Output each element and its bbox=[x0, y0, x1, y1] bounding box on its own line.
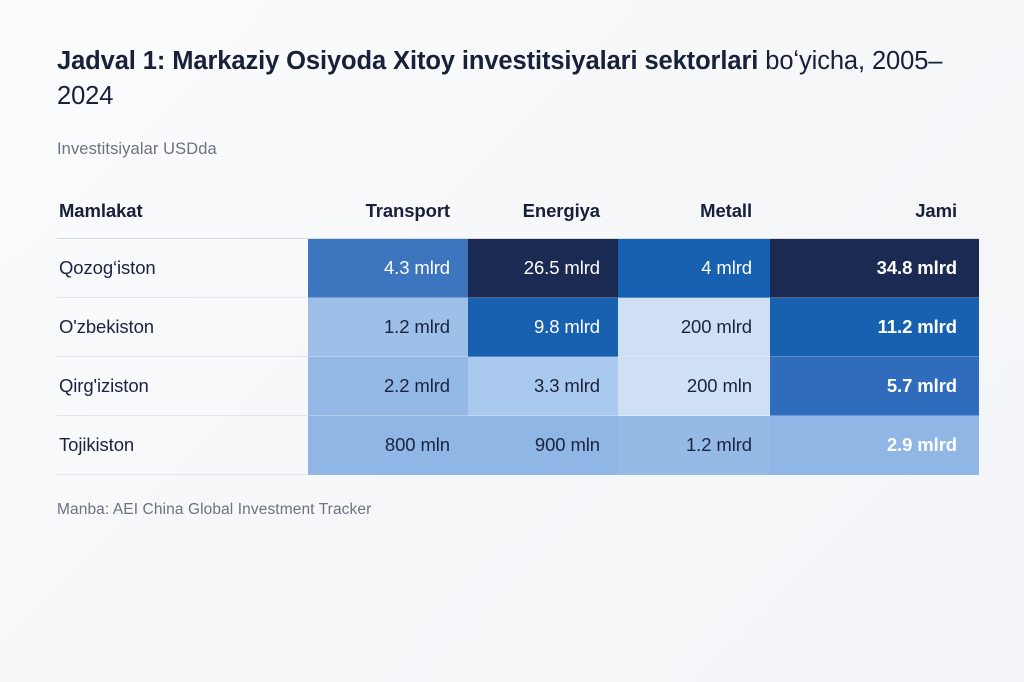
cell-transport: 800 mln bbox=[308, 416, 468, 475]
column-header-transport: Transport bbox=[308, 200, 468, 239]
row-country-label: Tojikiston bbox=[57, 416, 308, 475]
table-header-row: Mamlakat Transport Energiya Metall Jami bbox=[57, 200, 979, 239]
cell-metall: 1.2 mlrd bbox=[618, 416, 770, 475]
cell-transport: 4.3 mlrd bbox=[308, 239, 468, 298]
column-header-energiya: Energiya bbox=[468, 200, 618, 239]
table-header: Mamlakat Transport Energiya Metall Jami bbox=[57, 200, 979, 239]
cell-transport: 2.2 mlrd bbox=[308, 357, 468, 416]
table-row: Tojikiston800 mln900 mln1.2 mlrd2.9 mlrd bbox=[57, 416, 979, 475]
cell-jami: 5.7 mlrd bbox=[770, 357, 979, 416]
table-row: Qirg'iziston2.2 mlrd3.3 mlrd200 mln5.7 m… bbox=[57, 357, 979, 416]
figure-subtitle: Investitsiyalar USDda bbox=[57, 138, 979, 160]
row-country-label: Qirg'iziston bbox=[57, 357, 308, 416]
cell-jami: 11.2 mlrd bbox=[770, 298, 979, 357]
source-note: Manba: AEI China Global Investment Track… bbox=[57, 501, 979, 519]
cell-transport: 1.2 mlrd bbox=[308, 298, 468, 357]
table-body: Qozog‘iston4.3 mlrd26.5 mlrd4 mlrd34.8 m… bbox=[57, 239, 979, 475]
investment-table: Mamlakat Transport Energiya Metall Jami … bbox=[57, 200, 979, 475]
cell-jami: 34.8 mlrd bbox=[770, 239, 979, 298]
table-row: O'zbekiston1.2 mlrd9.8 mlrd200 mlrd11.2 … bbox=[57, 298, 979, 357]
page-title: Jadval 1: Markaziy Osiyoda Xitoy investi… bbox=[57, 44, 957, 114]
investment-table-wrapper: Mamlakat Transport Energiya Metall Jami … bbox=[57, 200, 979, 475]
column-header-jami: Jami bbox=[770, 200, 979, 239]
table-figure-page: Jadval 1: Markaziy Osiyoda Xitoy investi… bbox=[0, 0, 1024, 682]
row-country-label: Qozog‘iston bbox=[57, 239, 308, 298]
column-header-country: Mamlakat bbox=[57, 200, 308, 239]
row-country-label: O'zbekiston bbox=[57, 298, 308, 357]
page-title-strong: Jadval 1: Markaziy Osiyoda Xitoy investi… bbox=[57, 47, 758, 75]
table-row: Qozog‘iston4.3 mlrd26.5 mlrd4 mlrd34.8 m… bbox=[57, 239, 979, 298]
cell-metall: 4 mlrd bbox=[618, 239, 770, 298]
figure-content: Jadval 1: Markaziy Osiyoda Xitoy investi… bbox=[57, 44, 979, 519]
column-header-metall: Metall bbox=[618, 200, 770, 239]
cell-jami: 2.9 mlrd bbox=[770, 416, 979, 475]
cell-metall: 200 mlrd bbox=[618, 298, 770, 357]
cell-energiya: 26.5 mlrd bbox=[468, 239, 618, 298]
cell-metall: 200 mln bbox=[618, 357, 770, 416]
cell-energiya: 9.8 mlrd bbox=[468, 298, 618, 357]
cell-energiya: 3.3 mlrd bbox=[468, 357, 618, 416]
cell-energiya: 900 mln bbox=[468, 416, 618, 475]
